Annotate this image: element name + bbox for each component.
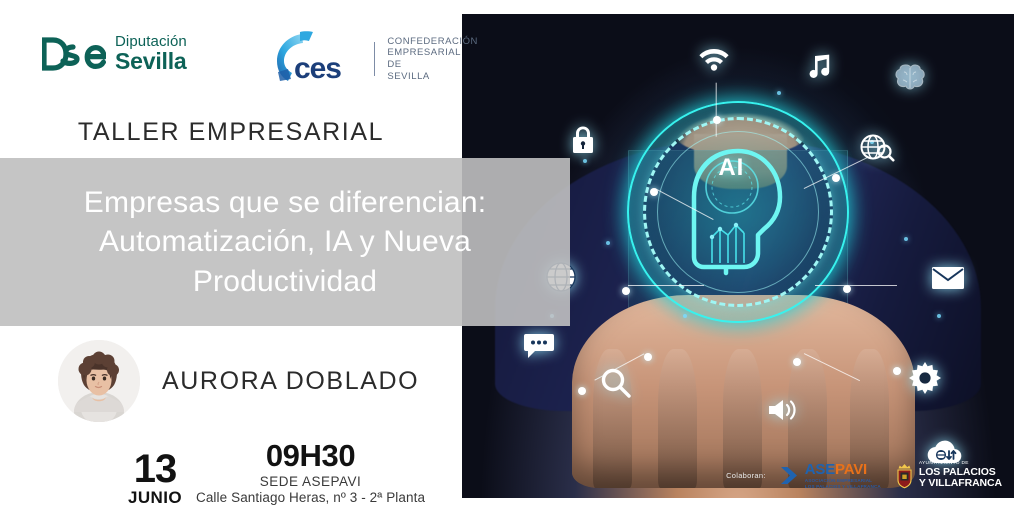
coat-of-arms-icon [895, 463, 914, 489]
schedule-block: 13 JUNIO 09H30 SEDE ASEPAVI Calle Santia… [128, 440, 425, 506]
event-day: 13 [128, 451, 182, 488]
asepavi-name-a: ASE [805, 461, 835, 478]
title-line-1: Empresas que se diferencian: [84, 183, 487, 223]
speaker-avatar [58, 340, 140, 422]
speaker-portrait-icon [58, 340, 140, 422]
dse-monogram-icon [42, 37, 106, 71]
asepavi-arrow-icon [780, 466, 801, 485]
ces-line2: EMPRESARIAL DE [387, 47, 478, 70]
lock-icon [570, 125, 596, 155]
ai-center-label: AI [718, 154, 744, 182]
svg-text:ces: ces [294, 52, 341, 85]
globe-search-icon [859, 133, 895, 163]
ayuntamiento-logo: AYUNTAMIENTO DE LOS PALACIOS Y VILLAFRAN… [895, 461, 1002, 490]
speaker-block: AURORA DOBLADO [58, 340, 419, 422]
date-block: 13 JUNIO [128, 451, 182, 505]
event-venue: SEDE ASEPAVI [196, 474, 425, 489]
wifi-icon [697, 45, 731, 71]
diputacion-logo: Diputación Sevilla [42, 34, 187, 73]
ces-logo: ces CONFEDERACIÓN EMPRESARIAL DE SEVILLA [272, 28, 478, 90]
organizer-logos: Diputación Sevilla ces CONFEDERACIÓN EMP… [0, 28, 462, 98]
envelope-icon [931, 266, 965, 290]
diputacion-line2: Sevilla [115, 50, 187, 73]
collaborators-label: Colaboran: [726, 471, 766, 480]
ces-line3: SEVILLA [387, 71, 478, 83]
event-time: 09H30 [196, 440, 425, 473]
event-poster: AI [0, 0, 1024, 512]
brain-icon [893, 62, 927, 92]
diputacion-line1: Diputación [115, 34, 187, 49]
chat-bubble-icon [523, 333, 555, 359]
ayuntamiento-line2: Y VILLAFRANCA [919, 478, 1002, 490]
search-icon [600, 367, 632, 399]
speaker-name: AURORA DOBLADO [162, 367, 419, 396]
gear-icon [909, 362, 941, 394]
ces-line1: CONFEDERACIÓN [387, 36, 478, 48]
event-month: JUNIO [128, 490, 182, 506]
asepavi-logo: ASEPAVI ASOCIACIÓN EMPRESARIAL LOS PALAC… [780, 462, 881, 490]
speaker-icon [766, 396, 800, 424]
ces-swoosh-icon: ces [272, 28, 368, 90]
music-note-icon [804, 53, 834, 81]
collaborators: Colaboran: ASEPAVI ASOCIACIÓN EMPRESARIA… [726, 461, 1002, 490]
time-venue-block: 09H30 SEDE ASEPAVI Calle Santiago Heras,… [196, 440, 425, 506]
event-kicker: TALLER EMPRESARIAL [0, 118, 462, 147]
title-line-3: Productividad [193, 262, 377, 302]
ai-hologram: AI [627, 101, 849, 323]
asepavi-name-b: PAVI [835, 461, 867, 478]
title-line-2: Automatización, IA y Nueva [99, 222, 471, 262]
asepavi-sub2: LOS PALACIOS Y VILLAFRANCA [805, 485, 881, 490]
event-address: Calle Santiago Heras, nº 3 - 2ª Planta [196, 490, 425, 505]
event-title: Empresas que se diferencian: Automatizac… [0, 158, 570, 326]
asepavi-sub1: ASOCIACIÓN EMPRESARIAL [805, 479, 881, 484]
